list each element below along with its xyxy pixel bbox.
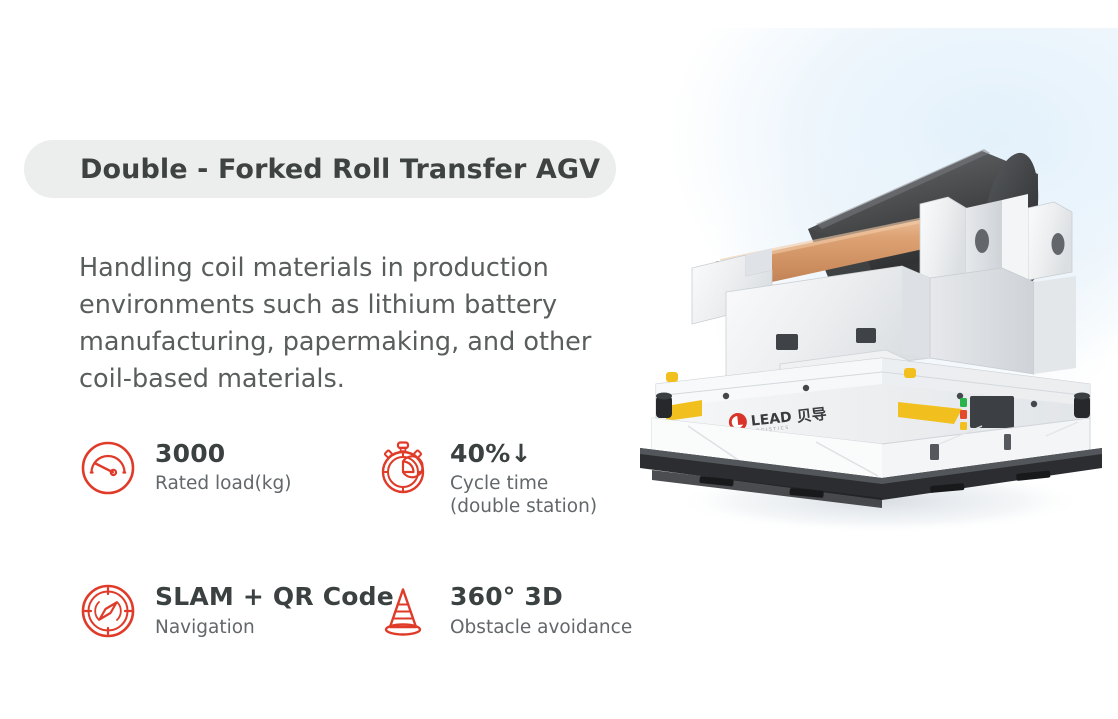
beacon-right (904, 368, 916, 378)
spec-label-line1: Rated load(kg) (155, 473, 291, 494)
gauge-icon (79, 439, 137, 497)
compass-icon (79, 582, 137, 640)
slide-root: Double - Forked Roll Transfer AGV Handli… (0, 0, 1118, 719)
spec-item-rated-load: 3000 Rated load(kg) (79, 437, 374, 497)
spec-text: 3000 Rated load(kg) (155, 437, 291, 495)
spec-label-line1: Obstacle avoidance (450, 617, 632, 638)
spec-row: SLAM + QR Code Navigation (79, 580, 659, 640)
stopwatch-icon (374, 439, 432, 497)
spec-grid: 3000 Rated load(kg) (79, 437, 659, 640)
spec-value: 3000 (155, 441, 291, 467)
title-pill: Double - Forked Roll Transfer AGV (24, 140, 616, 198)
spec-value: 40%↓ (450, 441, 597, 467)
page-title: Double - Forked Roll Transfer AGV (80, 154, 600, 185)
traffic-cone-icon (374, 582, 432, 640)
beacon-left (666, 372, 678, 382)
logo-text-cjk: 贝导 (796, 405, 828, 426)
control-panel (970, 396, 1014, 428)
spec-label: Cycle time (double station) (450, 472, 597, 518)
spec-item-navigation: SLAM + QR Code Navigation (79, 580, 374, 640)
spec-label-line1: Cycle time (450, 472, 597, 495)
spec-label: Navigation (155, 616, 394, 639)
spec-item-obstacle-avoidance: 360° 3D Obstacle avoidance (374, 580, 654, 640)
left-content-column: Double - Forked Roll Transfer AGV Handli… (0, 0, 660, 719)
spec-value: 360° 3D (450, 584, 632, 610)
description-paragraph: Handling coil materials in production en… (79, 250, 639, 398)
spec-label-line1: Navigation (155, 617, 255, 638)
spec-label: Obstacle avoidance (450, 616, 632, 639)
spec-text: 360° 3D Obstacle avoidance (450, 580, 632, 638)
product-image-agv: LEAD 贝导 LOGISTICS (630, 96, 1118, 536)
spec-label: Rated load(kg) (155, 472, 291, 495)
spec-item-cycle-time: 40%↓ Cycle time (double station) (374, 437, 654, 518)
spec-text: SLAM + QR Code Navigation (155, 580, 394, 638)
spec-row: 3000 Rated load(kg) (79, 437, 659, 518)
spec-text: 40%↓ Cycle time (double station) (450, 437, 597, 518)
spec-value: SLAM + QR Code (155, 584, 394, 610)
spec-label-line2: (double station) (450, 495, 597, 518)
